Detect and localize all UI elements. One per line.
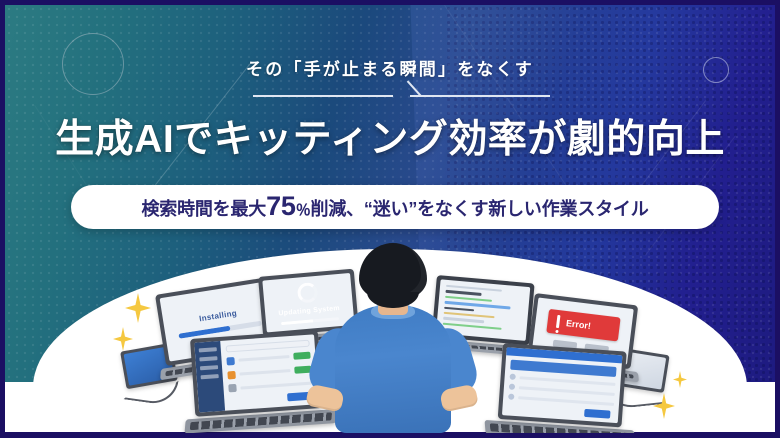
updating-progress-fill xyxy=(281,319,313,325)
row-label xyxy=(519,386,615,396)
sidebar-item xyxy=(200,365,219,370)
table-row xyxy=(227,351,311,367)
highlight-pill-text: 検索時間を最大75％削減、“迷い”をなくす新しい作業スタイル xyxy=(141,193,648,221)
worker-torso xyxy=(335,305,451,433)
pill-prefix: 検索時間を最大 xyxy=(141,195,266,221)
worker-head xyxy=(359,243,427,301)
highlight-pill: 検索時間を最大75％削減、“迷い”をなくす新しい作業スタイル xyxy=(71,185,719,229)
row-label xyxy=(239,355,290,362)
rule-right xyxy=(410,95,550,97)
pill-percent: ％ xyxy=(296,199,311,220)
form-screen xyxy=(502,347,622,423)
row-label xyxy=(518,396,614,406)
installing-label: Installing xyxy=(198,308,237,323)
table-row xyxy=(229,378,313,394)
table-row xyxy=(228,364,312,380)
error-label: Error! xyxy=(566,318,592,331)
bullet-icon xyxy=(509,374,515,380)
sidebar-item xyxy=(201,374,220,379)
pill-number: 75 xyxy=(266,193,296,220)
page-title: 生成AIでキッティング効率が劇的向上 xyxy=(5,108,775,164)
laptop-lid xyxy=(190,330,323,417)
rule-left xyxy=(253,95,393,97)
eyebrow-text: その「手が止まる瞬間」をなくす xyxy=(5,55,775,80)
row-label xyxy=(520,376,616,386)
bullet-icon xyxy=(508,394,514,400)
exclamation-icon xyxy=(556,315,561,328)
dashboard-screen xyxy=(194,334,319,412)
sidebar-item xyxy=(199,356,218,361)
banner-root: その「手が止まる瞬間」をなくす 生成AIでキッティング効率が劇的向上 検索時間を… xyxy=(0,0,780,438)
error-dialog: Error! xyxy=(547,308,620,340)
row-label xyxy=(240,369,291,376)
sidebar-item xyxy=(199,347,218,352)
bullet-icon xyxy=(509,384,515,390)
app-icon xyxy=(227,357,236,366)
illustration: Installing Updating System xyxy=(5,227,775,433)
app-icon xyxy=(228,370,237,379)
form-body xyxy=(502,369,621,423)
row-label xyxy=(241,381,313,389)
laptop-lid xyxy=(498,343,627,427)
dashboard-main xyxy=(221,334,319,410)
primary-button[interactable] xyxy=(584,409,610,419)
status-badge xyxy=(293,352,310,360)
spinner-icon xyxy=(297,282,319,304)
worker-figure xyxy=(329,243,457,433)
app-icon xyxy=(229,384,238,393)
pill-suffix: 削減、“迷い”をなくす新しい作業スタイル xyxy=(311,195,649,221)
banner-stage: その「手が止まる瞬間」をなくす 生成AIでキッティング効率が劇的向上 検索時間を… xyxy=(5,5,775,433)
